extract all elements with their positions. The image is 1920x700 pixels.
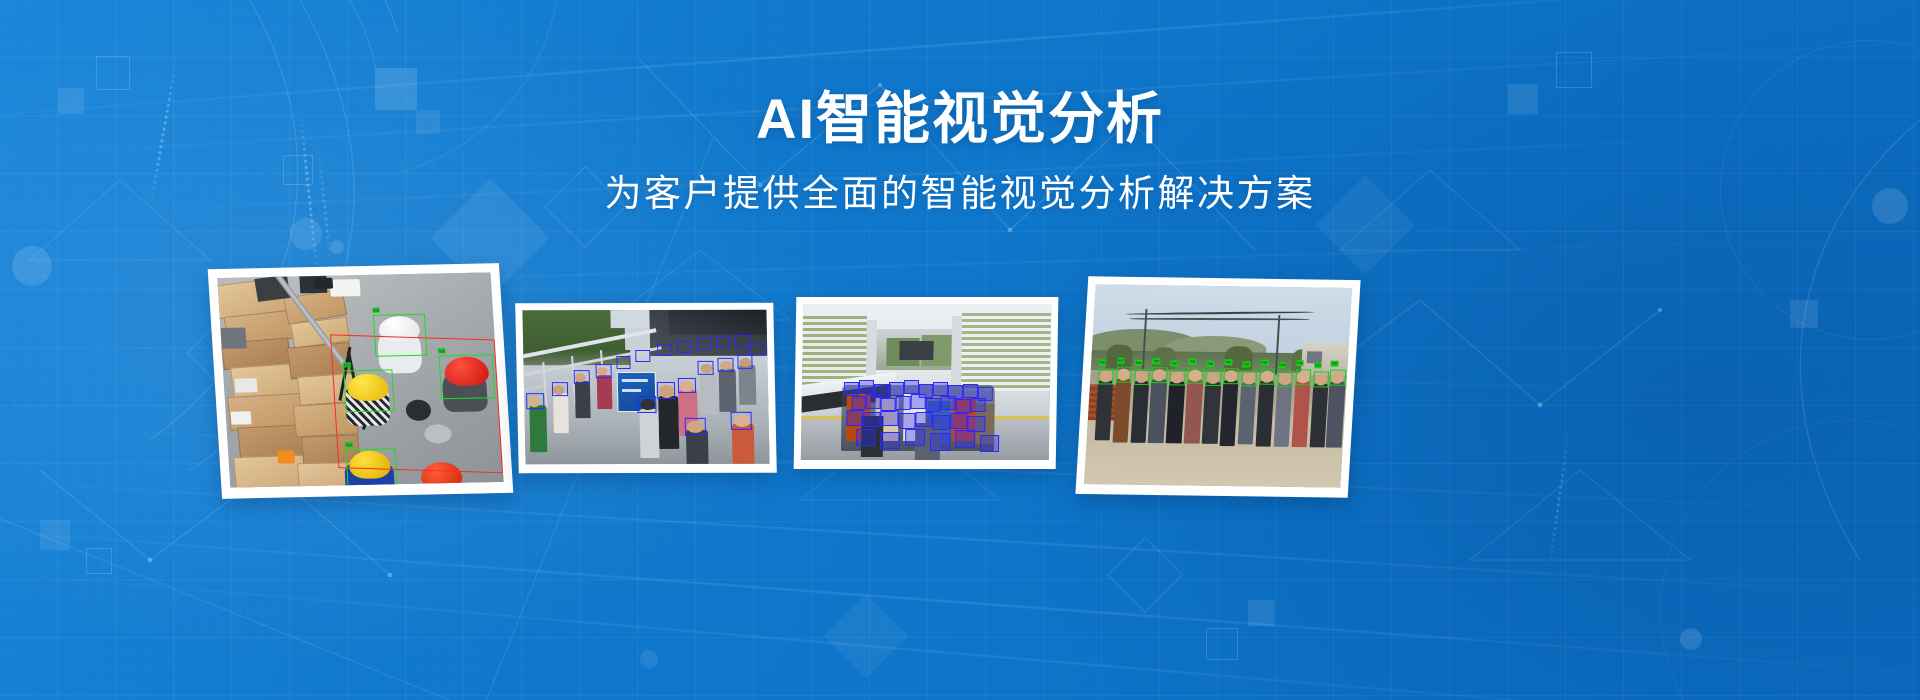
- detection-box: [438, 354, 495, 399]
- photo-3-content: [801, 304, 1051, 460]
- detection-box: [638, 396, 657, 413]
- detection-box: [731, 411, 752, 430]
- detection-box: [881, 410, 899, 426]
- detection-box: [851, 396, 866, 410]
- detection-box: [684, 418, 705, 437]
- detection-box: [657, 344, 672, 356]
- detection-box: [846, 410, 864, 426]
- detection-box: [911, 394, 926, 408]
- photo-2-content: [522, 310, 769, 464]
- gallery-photo-station-platform-crowd-detection[interactable]: [794, 297, 1059, 469]
- detection-box: [657, 382, 676, 399]
- detection-box: [1277, 371, 1293, 387]
- detection-box: [970, 398, 985, 412]
- detection-label: hat: [1135, 360, 1143, 366]
- detection-box: [698, 361, 714, 375]
- detection-label: hat: [372, 307, 380, 312]
- detection-box: [527, 393, 544, 408]
- detection-box: [1259, 369, 1275, 385]
- detection-box: [930, 433, 950, 450]
- detection-box: [915, 412, 933, 428]
- detection-box: [905, 429, 925, 446]
- detection-label: hat: [345, 442, 353, 447]
- gallery-photo-outdoor-group-hat-detection[interactable]: hat hat hat hat hat hat hat hat hat hat: [1075, 276, 1360, 497]
- detection-box: [1133, 369, 1149, 385]
- detection-box: [373, 314, 428, 357]
- detection-box: [750, 344, 765, 356]
- detection-box: [735, 334, 750, 346]
- detection-label: hat: [1099, 359, 1107, 365]
- detection-box: [926, 398, 941, 412]
- detection-box: [856, 429, 876, 446]
- detection-label: hat: [1153, 358, 1161, 364]
- detection-box: [737, 354, 753, 368]
- detection-box: [955, 399, 970, 413]
- detection-box: [1241, 370, 1257, 386]
- gallery-photo-bridge-crowd-face-detection[interactable]: [515, 303, 777, 473]
- detection-box: [1169, 369, 1185, 385]
- detection-box: [1295, 369, 1311, 385]
- banner-title: AI智能视觉分析: [0, 88, 1920, 150]
- detection-box: [963, 384, 978, 398]
- detection-box: [866, 394, 881, 408]
- detection-label: hat: [438, 348, 446, 353]
- detection-label: hat: [1242, 361, 1250, 367]
- photo-1-content: hat hat hat hat: [217, 272, 503, 487]
- detection-box: [1116, 367, 1132, 383]
- detection-box: [898, 413, 916, 429]
- detection-box: [343, 369, 395, 412]
- detection-box: [616, 356, 631, 368]
- detection-box: [1205, 370, 1221, 386]
- detection-label: hat: [1189, 359, 1197, 365]
- detection-label: hat: [1278, 362, 1286, 368]
- detection-box: [933, 415, 951, 431]
- gallery-photo-warehouse-helmet-detection[interactable]: hat hat hat hat: [208, 263, 514, 499]
- banner-text-block: AI智能视觉分析 为客户提供全面的智能视觉分析解决方案: [0, 88, 1920, 216]
- detection-box: [346, 449, 398, 488]
- detection-box: [1187, 368, 1203, 384]
- detection-box: [896, 396, 911, 410]
- detection-box: [844, 382, 859, 396]
- detection-box: [552, 383, 568, 397]
- detection-box: [950, 413, 968, 429]
- detection-box: [677, 341, 692, 353]
- detection-box: [678, 378, 697, 393]
- detection-box: [1152, 367, 1168, 383]
- detection-box: [696, 338, 711, 350]
- detection-box: [933, 382, 948, 396]
- detection-box: [716, 336, 731, 348]
- detection-label: hat: [1206, 361, 1214, 367]
- detection-box: [863, 412, 881, 428]
- detection-label: hat: [1331, 361, 1339, 367]
- detection-box: [955, 430, 975, 447]
- detection-box: [1313, 371, 1329, 387]
- detection-box: [940, 396, 955, 410]
- detection-box: [1330, 370, 1346, 386]
- detection-label: hat: [1260, 360, 1268, 366]
- ai-vision-banner: AI智能视觉分析 为客户提供全面的智能视觉分析解决方案: [0, 0, 1920, 700]
- banner-subtitle: 为客户提供全面的智能视觉分析解决方案: [0, 172, 1920, 216]
- detection-box: [1223, 368, 1239, 384]
- detection-label: hat: [343, 363, 351, 368]
- detection-box: [717, 358, 733, 372]
- detection-box: [1098, 368, 1114, 384]
- detection-box: [859, 380, 874, 394]
- detection-box: [635, 350, 650, 362]
- detection-label: hat: [1296, 360, 1304, 366]
- detection-box: [880, 432, 900, 449]
- detection-box: [979, 435, 999, 452]
- photo-4-content: hat hat hat hat hat hat hat hat hat hat: [1084, 284, 1352, 487]
- detection-box: [889, 382, 904, 396]
- detection-box: [574, 370, 590, 384]
- detection-label: hat: [1117, 358, 1125, 364]
- detection-label: hat: [1224, 359, 1232, 365]
- detection-label: hat: [1171, 360, 1179, 366]
- detection-box: [595, 364, 611, 378]
- detection-label: hat: [1314, 362, 1322, 368]
- detection-box: [903, 380, 918, 394]
